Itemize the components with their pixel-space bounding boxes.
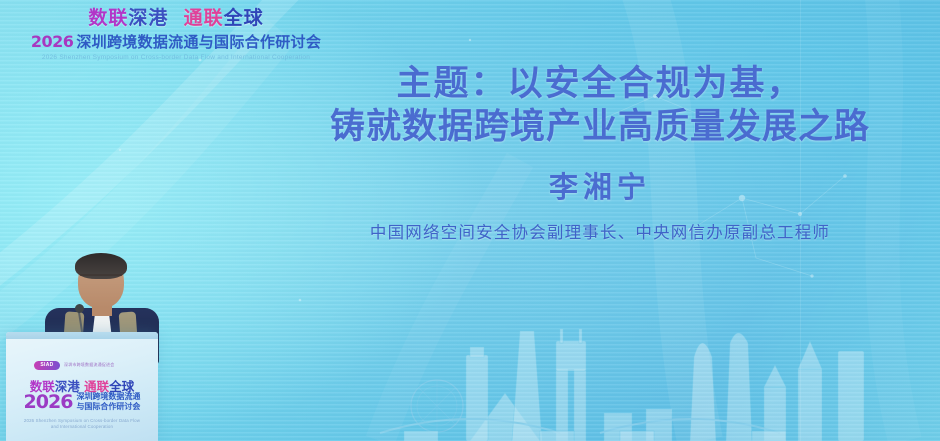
logo-seg-quanqiu: 全球 <box>224 7 264 29</box>
event-year: 2026 <box>31 32 74 51</box>
podium-name-line1: 深圳跨境数据流通 <box>76 392 140 402</box>
slide-title-line1: 主题：以安全合规为基， <box>260 62 940 105</box>
podium-association-emblem: SIAD 深圳市跨境数据流通促进会 <box>34 360 130 370</box>
event-logo: 数联深港 通联全球 <box>0 8 352 28</box>
podium-event-name: 2026 深圳跨境数据流通 与国际合作研讨会 <box>6 392 158 412</box>
slide-title-line2: 铸就数据跨境产业高质量发展之路 <box>260 105 940 148</box>
speaker-name: 李湘宁 <box>260 164 940 206</box>
podium-name-lines: 深圳跨境数据流通 与国际合作研讨会 <box>76 392 140 412</box>
podium-name-line2: 与国际合作研讨会 <box>76 402 140 412</box>
microphone-icon <box>75 304 84 313</box>
podium-event-name-en: 2026 Shenzhen Symposium on Cross-border … <box>6 418 158 430</box>
event-header-banner: 数联深港 通联全球 2026深圳跨境数据流通与国际合作研讨会 2026 Shen… <box>0 0 352 70</box>
logo-seg-shengang: 深港 <box>128 7 168 29</box>
emblem-mark: SIAD <box>34 361 60 370</box>
emblem-text: 深圳市跨境数据流通促进会 <box>64 362 114 368</box>
event-name-en: 2026 Shenzhen Symposium on Cross-border … <box>0 54 352 61</box>
podium-panel: SIAD 深圳市跨境数据流通促进会 数联深港 通联全球 2026 深圳跨境数据流… <box>6 332 158 441</box>
presentation-screen: 数联深港 通联全球 2026深圳跨境数据流通与国际合作研讨会 2026 Shen… <box>0 0 940 441</box>
podium-name-en-line2: and International Cooperation <box>6 424 158 430</box>
event-name-cn-text: 深圳跨境数据流通与国际合作研讨会 <box>76 34 321 51</box>
podium-top-edge <box>6 332 158 339</box>
logo-seg-shulian: 数联 <box>88 7 128 29</box>
speaker-title: 中国网络空间安全协会副理事长、中央网信办原副总工程师 <box>260 219 940 243</box>
slide-title-block: 主题：以安全合规为基， 铸就数据跨境产业高质量发展之路 李湘宁 中国网络空间安全… <box>260 62 940 243</box>
podium-year: 2026 <box>24 393 73 412</box>
presenter-glasses <box>80 274 122 283</box>
logo-seg-tonglian: 通联 <box>184 7 224 29</box>
event-name-cn: 2026深圳跨境数据流通与国际合作研讨会 <box>0 31 352 52</box>
